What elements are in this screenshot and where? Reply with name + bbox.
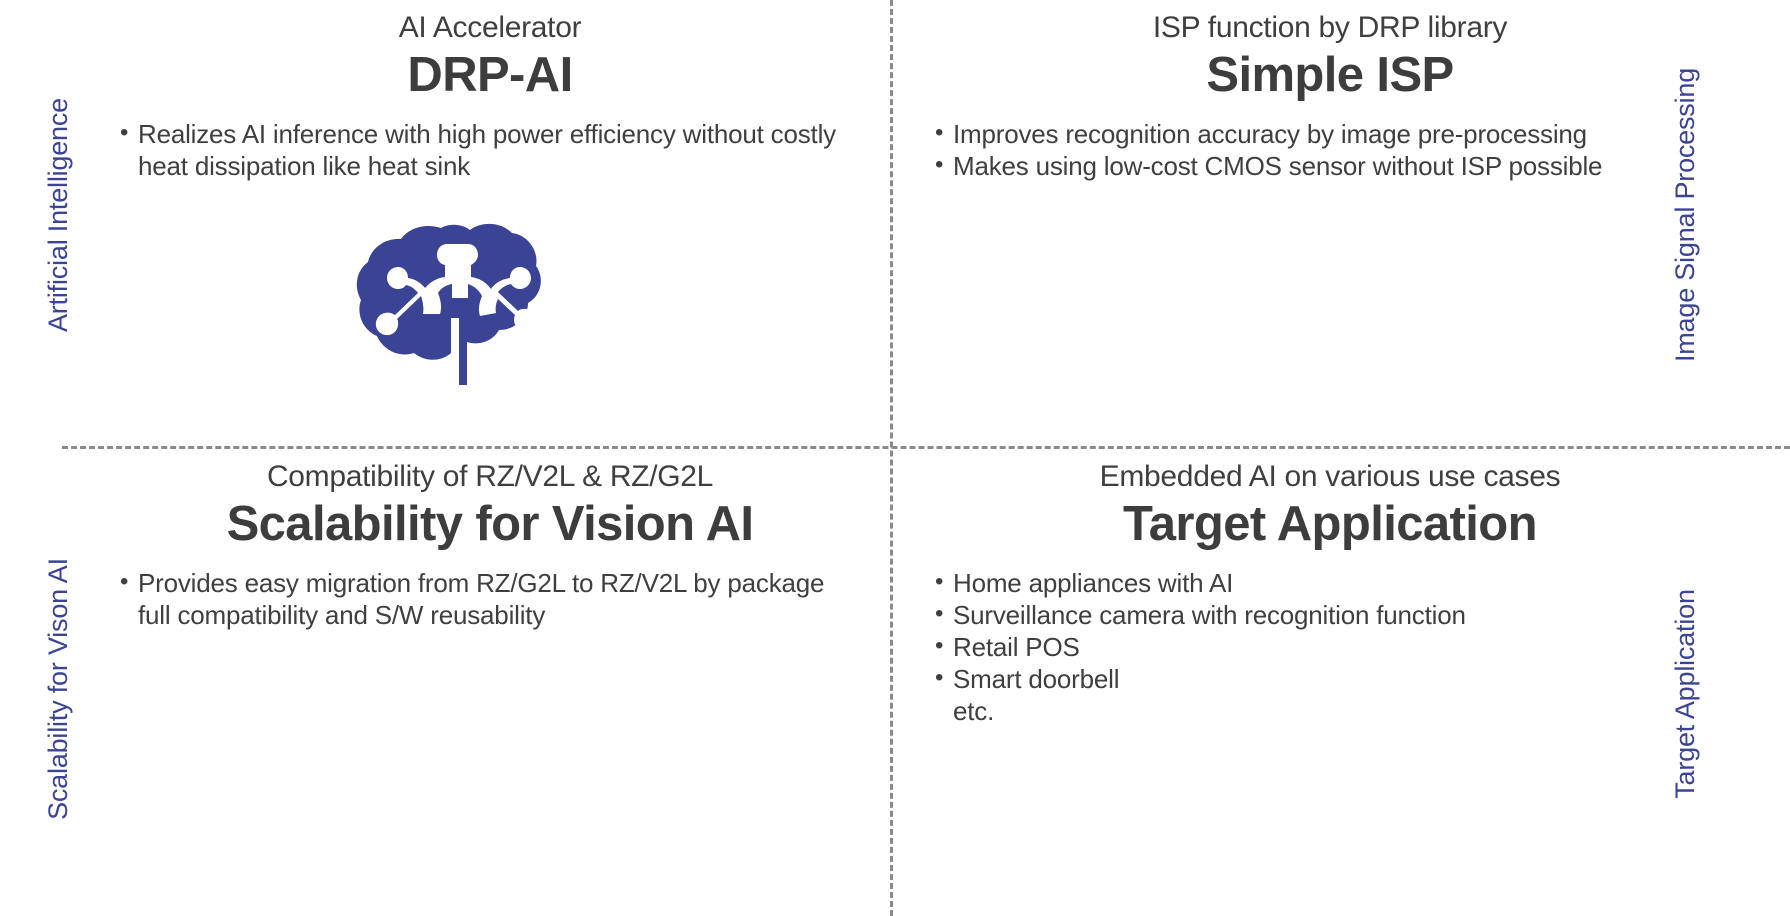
quadrant-artificial-intelligence: Artificial Intelligence AI Accelerator D… <box>0 0 890 446</box>
headline-text: Simple ISP <box>933 48 1727 103</box>
side-label-scalability-for-vision-ai: Scalability for Vison AI <box>38 539 78 839</box>
quadrant-content: AI Accelerator DRP-AI Realizes AI infere… <box>118 12 862 183</box>
quadrant-content: Compatibility of RZ/V2L & RZ/G2L Scalabi… <box>118 461 862 632</box>
headline-text: DRP-AI <box>118 48 862 103</box>
headline-text: Scalability for Vision AI <box>118 497 862 552</box>
list-trailing-note: etc. <box>933 696 1727 728</box>
quadrant-content: ISP function by DRP library Simple ISP I… <box>933 12 1727 183</box>
list-item: Smart doorbell <box>933 664 1727 696</box>
bullet-list: Realizes AI inference with high power ef… <box>118 119 862 183</box>
quadrant-content: Embedded AI on various use cases Target … <box>933 461 1727 728</box>
list-item: Improves recognition accuracy by image p… <box>933 119 1727 151</box>
headline-text: Target Application <box>933 497 1727 552</box>
list-item: Home appliances with AI <box>933 568 1727 600</box>
list-item: Surveillance camera with recognition fun… <box>933 600 1727 632</box>
feature-quadrant-board: Artificial Intelligence AI Accelerator D… <box>0 0 1790 916</box>
eyebrow-text: Compatibility of RZ/V2L & RZ/G2L <box>118 461 862 493</box>
quadrant-scalability-for-vision-ai: Scalability for Vison AI Compatibility o… <box>0 449 890 895</box>
quadrant-target-application: Target Application Embedded AI on variou… <box>893 449 1783 895</box>
eyebrow-text: Embedded AI on various use cases <box>933 461 1727 493</box>
bullet-list: Home appliances with AI Surveillance cam… <box>933 568 1727 728</box>
side-label-artificial-intelligence: Artificial Intelligence <box>38 50 78 380</box>
eyebrow-text: ISP function by DRP library <box>933 12 1727 44</box>
list-item: Provides easy migration from RZ/G2L to R… <box>118 568 862 632</box>
brain-icon <box>355 222 555 392</box>
list-item: Retail POS <box>933 632 1727 664</box>
quadrant-image-signal-processing: Image Signal Processing ISP function by … <box>893 0 1783 446</box>
bullet-list: Provides easy migration from RZ/G2L to R… <box>118 568 862 632</box>
eyebrow-text: AI Accelerator <box>118 12 862 44</box>
list-item: Makes using low-cost CMOS sensor without… <box>933 151 1727 183</box>
list-item: Realizes AI inference with high power ef… <box>118 119 862 183</box>
bullet-list: Improves recognition accuracy by image p… <box>933 119 1727 183</box>
